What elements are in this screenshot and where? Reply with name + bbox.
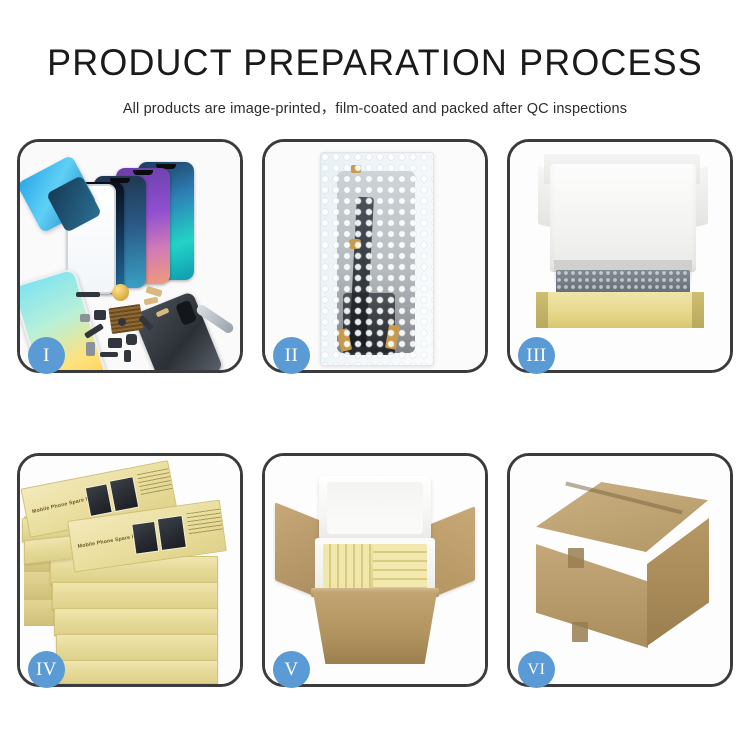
carton-packing-image [265,456,485,684]
bubble-wrap-bag-icon [320,152,434,366]
box-stack-icon: Mobile Phone Spare Parts Mobile Phone Sp… [20,456,240,684]
page-title: PRODUCT PREPARATION PROCESS [11,0,739,81]
yellow-boxes-icon [323,544,427,590]
phone-parts-image [20,142,240,370]
step-panel-5: V [262,453,488,687]
spare-part-icon [118,318,126,326]
step-badge-4: IV [28,651,65,688]
spare-part-icon [80,314,90,322]
step-badge-6: VI [518,651,555,688]
spare-part-icon [86,342,95,356]
spare-part-icon [94,310,106,320]
spare-part-icon [100,352,118,357]
step-panel-6: VI [507,453,733,687]
step-badge-5: V [273,651,310,688]
step-panel-3: III [507,139,733,373]
stacked-boxes-image: Mobile Phone Spare Parts Mobile Phone Sp… [20,456,240,684]
spare-part-icon [126,334,137,345]
gold-component-icon [112,284,129,301]
spare-part-icon [108,338,122,348]
step-panel-2: II [262,139,488,373]
step-badge-2: II [273,337,310,374]
carton-tape-icon [572,622,588,642]
step-panel-4: Mobile Phone Spare Parts Mobile Phone Sp… [17,453,243,687]
foam-box-image [510,142,730,370]
spare-part-icon [76,292,100,297]
step-panel-1: I [17,139,243,373]
carton-tape-icon [568,548,584,568]
product-preparation-infographic: PRODUCT PREPARATION PROCESS All products… [0,0,750,750]
bubble-wrap-image [265,142,485,370]
step-badge-1: I [28,337,65,374]
kraft-box-front-icon [536,292,704,328]
carton-body-icon [313,592,437,664]
process-steps-grid: I II [17,139,733,687]
foam-liner-icon [550,164,696,272]
spare-part-icon [124,350,131,362]
step-badge-3: III [518,337,555,374]
page-subtitle: All products are image-printed，film-coat… [0,81,750,118]
header: PRODUCT PREPARATION PROCESS All products… [0,0,750,118]
sealed-carton-image [510,456,730,684]
